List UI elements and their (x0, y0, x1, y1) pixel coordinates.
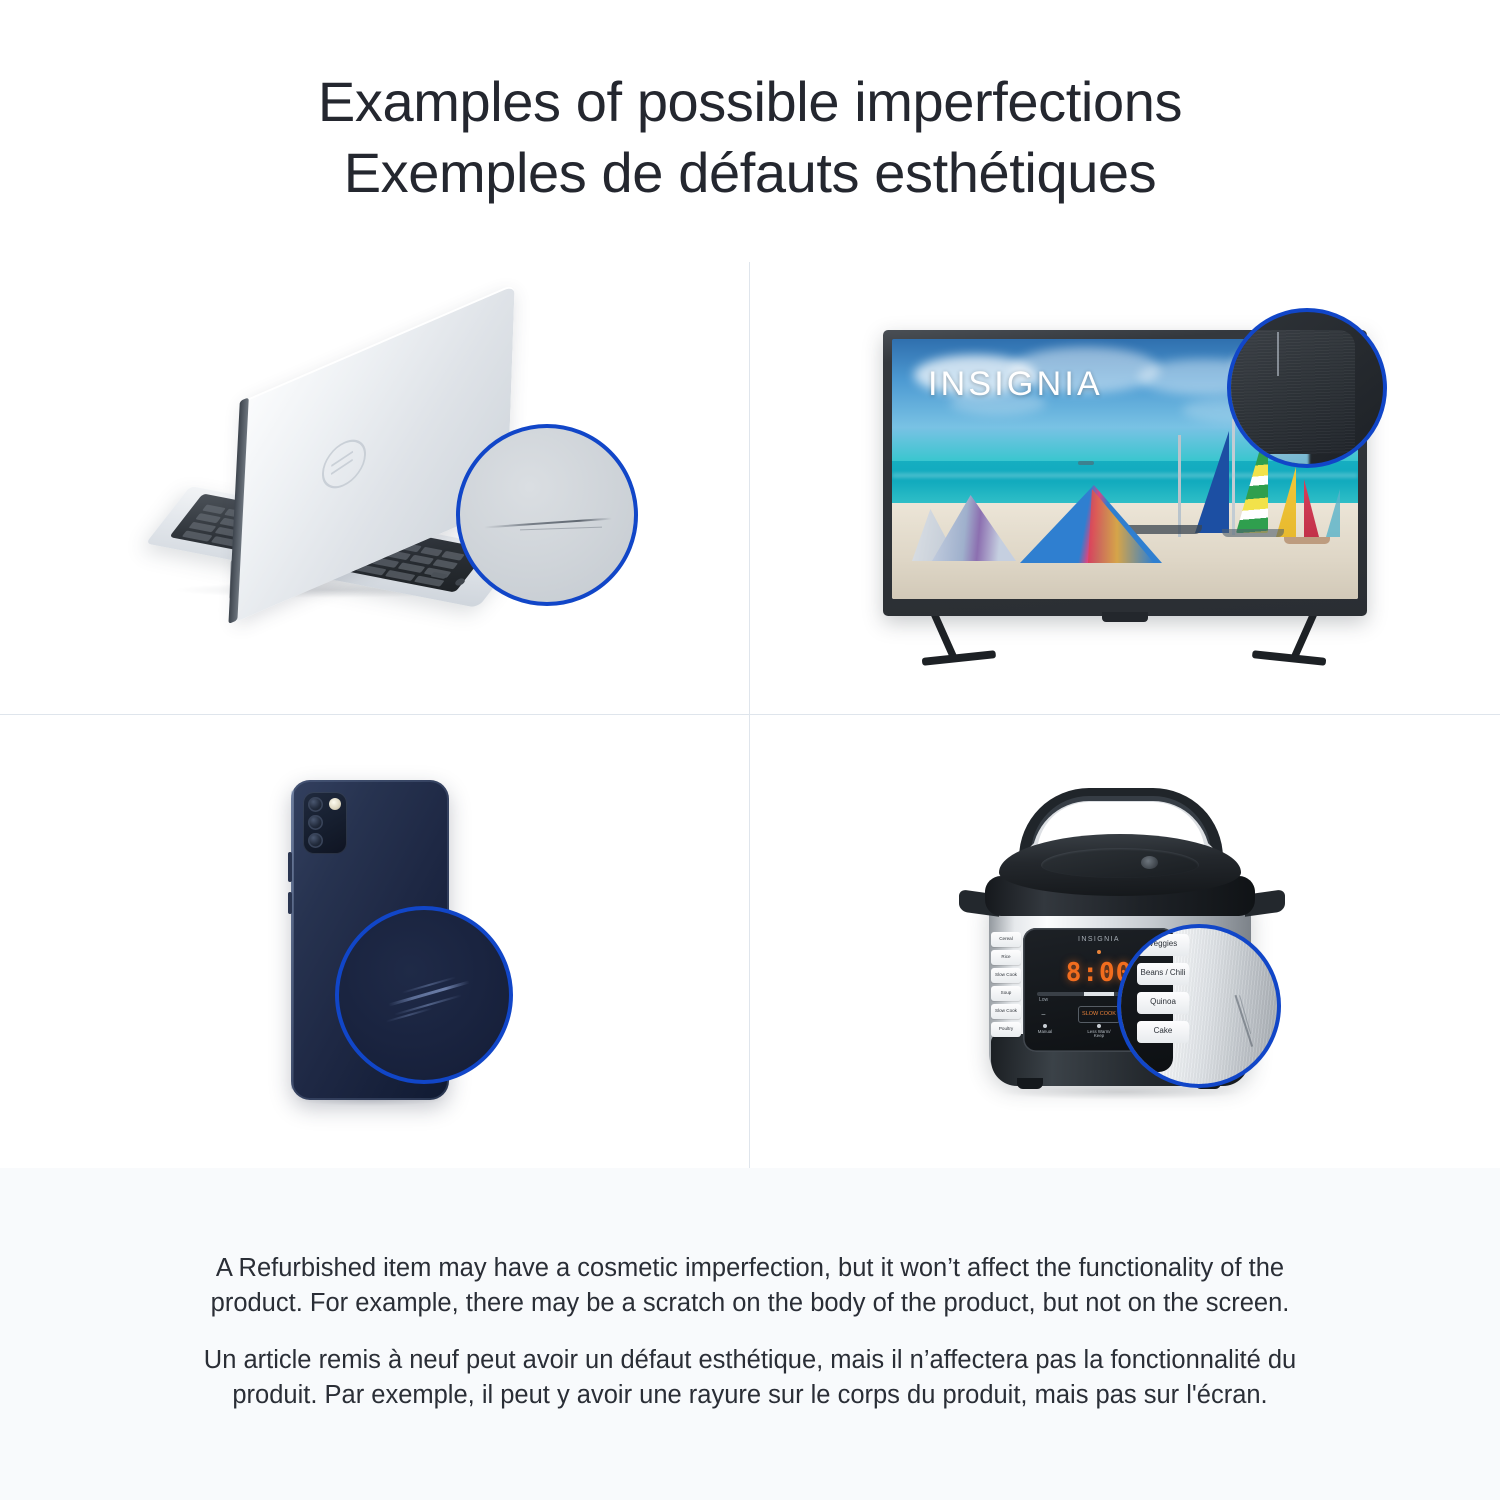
page-title-fr: Exemples de défauts esthétiques (344, 138, 1157, 209)
tv-scene-boat-hull-1 (1128, 525, 1202, 534)
cooker-preset-button[interactable]: Cereal (991, 932, 1021, 947)
scratch-mark-secondary (520, 527, 602, 531)
grid-cell-laptop (0, 262, 750, 715)
grid-cell-smartphone (0, 715, 750, 1168)
tv-brand-text: INSIGNIA (928, 365, 1103, 404)
scratch-mark-tertiary (401, 976, 455, 993)
cooker-mode-selector[interactable]: SLOW COOK (1078, 1006, 1120, 1023)
pressure-cooker-illustration: INSIGNIA 8:00 Low More SLOW COOK − + Man… (750, 715, 1500, 1168)
phone-volume-button (288, 852, 292, 882)
refurbished-imperfections-infographic: Examples of possible imperfections Exemp… (0, 0, 1500, 1500)
tv-scene-distant-boat (1078, 461, 1094, 465)
magnified-bezel-corner (1227, 330, 1355, 454)
cooker-foot-left (1017, 1078, 1043, 1089)
laptop-illustration (0, 262, 749, 714)
magnified-preset-button[interactable]: Veggies (1137, 934, 1189, 956)
cooker-pressure-vent-icon (1141, 856, 1158, 869)
magnified-preset-button[interactable]: Cake (1137, 1021, 1189, 1043)
mini-button-label: Manual (1033, 1030, 1057, 1035)
cooker-bar-label-left: Low (1039, 997, 1048, 1003)
magnified-preset-button[interactable]: Beans / Chili (1137, 963, 1189, 985)
tv-scene-sail-blue (1190, 431, 1229, 533)
cooker-lid-plate (1041, 848, 1199, 878)
television-illustration: INSIGNIA (750, 262, 1500, 714)
tv-scene-mast-blue (1178, 435, 1181, 537)
page-title-en: Examples of possible imperfections (318, 67, 1182, 138)
cooker-preset-button[interactable]: Slow Cook (991, 1004, 1021, 1019)
magnifier-phone-scratches (335, 906, 513, 1084)
tv-leg-right (1289, 616, 1317, 660)
magnified-preset-button[interactable]: Quinoa (1137, 992, 1189, 1014)
bezel-seam-mark (1277, 332, 1279, 376)
tv-scene-boat-hull-2 (1222, 529, 1284, 537)
tv-scene-boat-hull-3 (1284, 537, 1330, 544)
description-fr: Un article remis à neuf peut avoir un dé… (185, 1343, 1315, 1413)
magnifier-laptop-scratch (456, 424, 638, 606)
cooker-mini-button[interactable]: Less Warm/ Keep (1087, 1024, 1111, 1040)
cooker-preset-button[interactable]: Soup (991, 986, 1021, 1001)
phone-power-button (288, 892, 292, 914)
footer-description: A Refurbished item may have a cosmetic i… (0, 1168, 1500, 1500)
cooker-status-led (1097, 950, 1101, 954)
scratch-mark-secondary (394, 994, 462, 1016)
grid-cell-television: INSIGNIA (750, 262, 1500, 715)
product-example-grid: INSIGNIA (0, 262, 1500, 1168)
cooker-preset-button[interactable]: Slow Cook (991, 968, 1021, 983)
tv-leg-left (931, 616, 959, 660)
tv-center-nub (1102, 612, 1148, 622)
cooker-preset-button[interactable]: Poultry (991, 1022, 1021, 1037)
scratch-mark (1235, 994, 1253, 1046)
camera-lens-3-icon (308, 833, 323, 848)
camera-lens-2-icon (308, 815, 323, 830)
phone-camera-module (303, 792, 347, 854)
cooker-mini-button[interactable]: Manual (1033, 1024, 1057, 1040)
cooker-preset-button[interactable]: Rice (991, 950, 1021, 965)
camera-flash-icon (329, 798, 341, 810)
magnifier-tv-bezel (1227, 308, 1387, 468)
camera-lens-1-icon (308, 797, 323, 812)
smartphone-illustration (0, 715, 749, 1168)
magnifier-cooker-scratch: lay w Cook Veggies Beans / Chili Quinoa … (1117, 924, 1281, 1088)
mini-button-label: Less Warm/ Keep (1087, 1030, 1111, 1040)
title-block: Examples of possible imperfections Exemp… (0, 0, 1500, 262)
cooker-left-button-column: Cereal Rice Slow Cook Soup Slow Cook Pou… (991, 932, 1021, 1037)
cooker-minus-button[interactable]: − (1041, 1010, 1046, 1019)
grid-cell-pressure-cooker: INSIGNIA 8:00 Low More SLOW COOK − + Man… (750, 715, 1500, 1168)
magnified-button-column: Veggies Beans / Chili Quinoa Cake (1137, 934, 1189, 1043)
description-en: A Refurbished item may have a cosmetic i… (185, 1251, 1315, 1321)
